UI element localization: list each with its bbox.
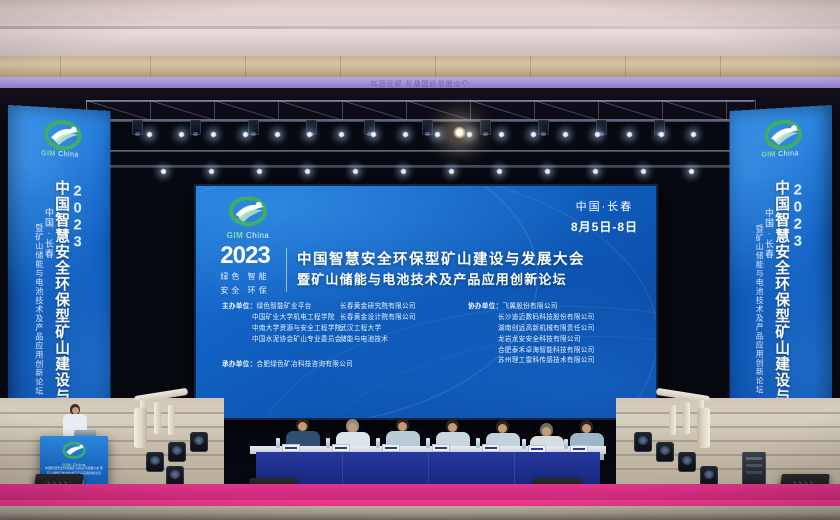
host-item: 中国水泥协会矿山专业委员会 — [222, 335, 340, 346]
conference-stage-photo: 欢迎莅临 长春国际会展中心 — [0, 0, 840, 520]
water-bottle — [426, 438, 430, 448]
event-location: 中国·长春 — [571, 198, 638, 214]
co-organizer-column: 协办单位：飞翼股份有限公司 长沙迪迈数码科技股份有限公司 湖南创远高新机械有限责… — [468, 302, 628, 367]
host-label: 主办单位： — [222, 303, 256, 310]
co-organizer-item: 龙岩龙安安全科技有限公司 — [468, 335, 628, 346]
host-item: 储能与电池技术 — [340, 335, 450, 346]
title-divider — [286, 248, 287, 292]
host-column-2: 长春黄金研究院有限公司 长春黄金设计院有限公司 武汉工程大学 储能与电池技术 — [340, 302, 450, 367]
host-item: 长春黄金研究院有限公司 — [340, 302, 450, 313]
gim-logo-text: GIM — [227, 231, 244, 240]
bright-spot-light — [452, 125, 467, 140]
water-bottle — [564, 439, 568, 449]
nameplate — [432, 444, 450, 452]
co-organizer-label: 协办单位： — [468, 303, 502, 310]
gim-logo-icon — [61, 441, 87, 461]
main-led-screen: GIM China 中国·长春 8月5日-8日 2023 绿色 智能 安全 环保… — [196, 186, 656, 418]
speaker-face — [72, 407, 79, 414]
host-item: 中南大学资源与安全工程学院 — [222, 324, 340, 335]
screen-year-block: 2023 绿色 智能 安全 环保 — [214, 244, 276, 296]
water-bottle — [276, 438, 280, 448]
event-date-location: 中国·长春 8月5日-8日 — [571, 198, 638, 235]
conference-title-sub: 暨矿山储能与电池技术及产品应用创新论坛 — [297, 271, 640, 289]
gim-logo-sub: China — [246, 231, 269, 240]
wall-led-text: 欢迎莅临 长春国际会展中心 — [0, 77, 840, 88]
co-organizer-item: 合肥泰禾卓海智能科技有限公司 — [468, 346, 628, 357]
nameplate — [332, 444, 350, 452]
host-item: 绿色智能矿业平台 — [256, 303, 311, 310]
gim-logo-icon — [763, 119, 797, 151]
foreground-barrier — [0, 506, 840, 520]
water-bottle — [376, 438, 380, 448]
gim-logo-icon — [43, 119, 77, 151]
gim-logo-icon — [227, 196, 269, 230]
banner-right-logo: GIM China — [753, 118, 808, 162]
screen-slogan-2: 安全 环保 — [214, 285, 276, 296]
screen-titles: 中国智慧安全环保型矿山建设与发展大会 暨矿山储能与电池技术及产品应用创新论坛 — [297, 251, 640, 288]
host-item: 武汉工程大学 — [340, 324, 450, 335]
banner-left-logo: GIM China — [32, 118, 87, 162]
screen-year: 2023 — [214, 244, 276, 268]
screen-slogan-1: 绿色 智能 — [214, 271, 276, 282]
host-item: 长春黄金设计院有限公司 — [340, 313, 450, 324]
nameplate — [282, 444, 300, 452]
undertaker-label: 承办单位： — [222, 361, 256, 368]
undertaker-name: 合肥绿色矿冶科技咨询有限公司 — [256, 361, 353, 368]
water-bottle — [476, 438, 480, 448]
screen-gim-logo: GIM China — [212, 196, 284, 243]
hall-ceiling — [0, 0, 840, 58]
nameplate — [382, 444, 400, 452]
wall-cornice — [0, 56, 840, 78]
co-organizer-item: 苏州理工雷科传感技术有限公司 — [468, 356, 628, 367]
host-item: 中国矿业大学机电工程学院 — [222, 313, 340, 324]
nameplate — [482, 444, 500, 452]
co-organizer-item: 湖南创远高新机械有限责任公司 — [468, 324, 628, 335]
equipment-rack — [742, 452, 766, 488]
co-organizer-item: 长沙迪迈数码科技股份有限公司 — [468, 313, 628, 324]
event-dates: 8月5日-8日 — [571, 218, 638, 235]
water-bottle — [326, 438, 330, 448]
water-bottle — [522, 439, 526, 449]
undertaker-row: 承办单位：合肥绿色矿冶科技咨询有限公司 — [222, 358, 353, 368]
screen-title-row: 2023 绿色 智能 安全 环保 中国智慧安全环保型矿山建设与发展大会 暨矿山储… — [214, 244, 640, 296]
conference-title-main: 中国智慧安全环保型矿山建设与发展大会 — [297, 251, 640, 271]
co-organizer-item: 飞翼股份有限公司 — [502, 303, 557, 310]
